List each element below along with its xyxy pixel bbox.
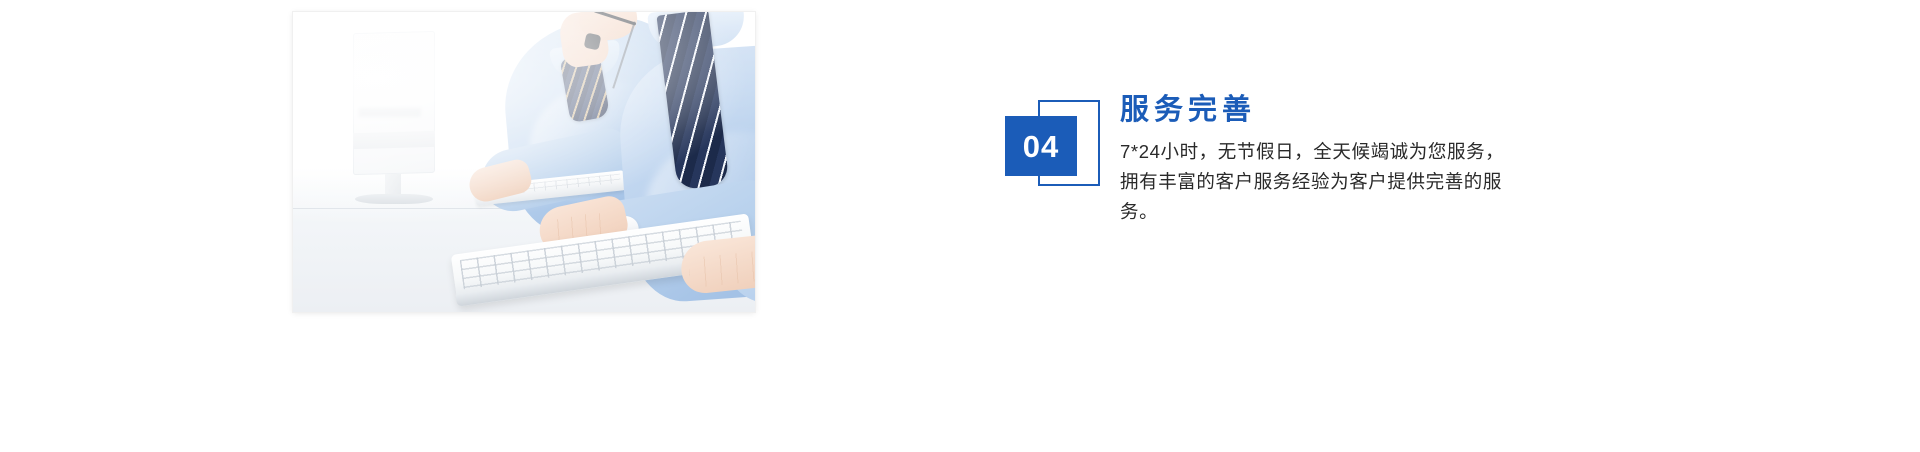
office-photo [293, 12, 755, 312]
monitor-base [355, 194, 433, 204]
feature-description: 7*24小时，无节假日，全天候竭诚为您服务，拥有丰富的客户服务经验为客户提供完善… [1120, 137, 1516, 227]
feature-content: 04 服务完善 7*24小时，无节假日，全天候竭诚为您服务，拥有丰富的客户服务经… [1005, 92, 1625, 262]
feature-text-column: 服务完善 7*24小时，无节假日，全天候竭诚为您服务，拥有丰富的客户服务经验为客… [1120, 92, 1620, 227]
monitor-logo [359, 108, 421, 117]
feature-title: 服务完善 [1120, 92, 1620, 128]
step-number-badge: 04 [1005, 100, 1107, 196]
monitor-icon [353, 31, 435, 175]
step-number: 04 [1023, 131, 1059, 162]
service-feature-banner: 04 服务完善 7*24小时，无节假日，全天候竭诚为您服务，拥有丰富的客户服务经… [0, 0, 1920, 452]
badge-solid-square: 04 [1005, 116, 1077, 176]
monitor-bezel [353, 131, 435, 149]
feature-photo-frame [293, 12, 755, 312]
